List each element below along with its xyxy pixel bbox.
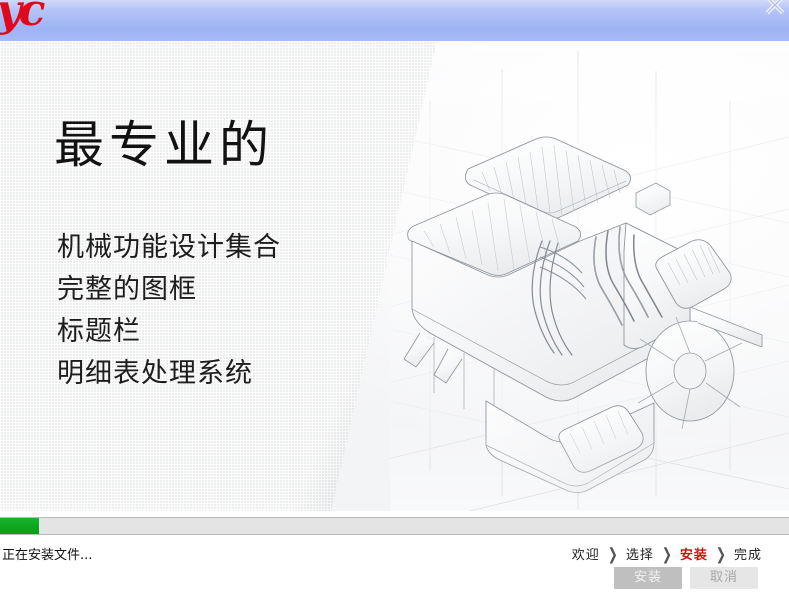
window-header: yc <box>0 0 789 41</box>
footer-buttons: 安装 取消 <box>614 567 758 589</box>
close-icon[interactable] <box>763 0 787 17</box>
list-item: 完整的图框 <box>57 269 387 311</box>
status-text: 正在安装文件... <box>2 544 92 563</box>
step-select: 选择 <box>626 544 654 563</box>
chevron-right-icon: ❯ <box>608 544 618 563</box>
chevron-right-icon: ❯ <box>662 544 672 563</box>
installer-footer: 正在安装文件... 欢迎 ❯ 选择 ❯ 安装 ❯ 完成 安装 取消 <box>0 511 789 592</box>
step-install: 安装 <box>680 544 708 563</box>
step-finish: 完成 <box>734 544 762 563</box>
cancel-button[interactable]: 取消 <box>690 567 758 589</box>
list-item: 机械功能设计集合 <box>57 227 387 269</box>
feature-list: 机械功能设计集合 完整的图框 标题栏 明细表处理系统 <box>57 227 387 395</box>
engine-wireframe-illustration <box>390 41 789 511</box>
brand-logo: yc <box>0 0 56 35</box>
progress-bar-fill <box>0 518 39 534</box>
install-button[interactable]: 安装 <box>614 567 682 589</box>
page-title: 最专业的 <box>54 119 274 172</box>
progress-bar <box>0 517 789 535</box>
step-welcome: 欢迎 <box>572 544 600 563</box>
list-item: 明细表处理系统 <box>57 353 387 395</box>
installer-window: yc <box>0 0 789 592</box>
promo-stage: 最专业的 机械功能设计集合 完整的图框 标题栏 明细表处理系统 <box>0 41 789 511</box>
chevron-right-icon: ❯ <box>716 544 726 563</box>
step-breadcrumb: 欢迎 ❯ 选择 ❯ 安装 ❯ 完成 <box>572 544 762 563</box>
list-item: 标题栏 <box>57 311 387 353</box>
